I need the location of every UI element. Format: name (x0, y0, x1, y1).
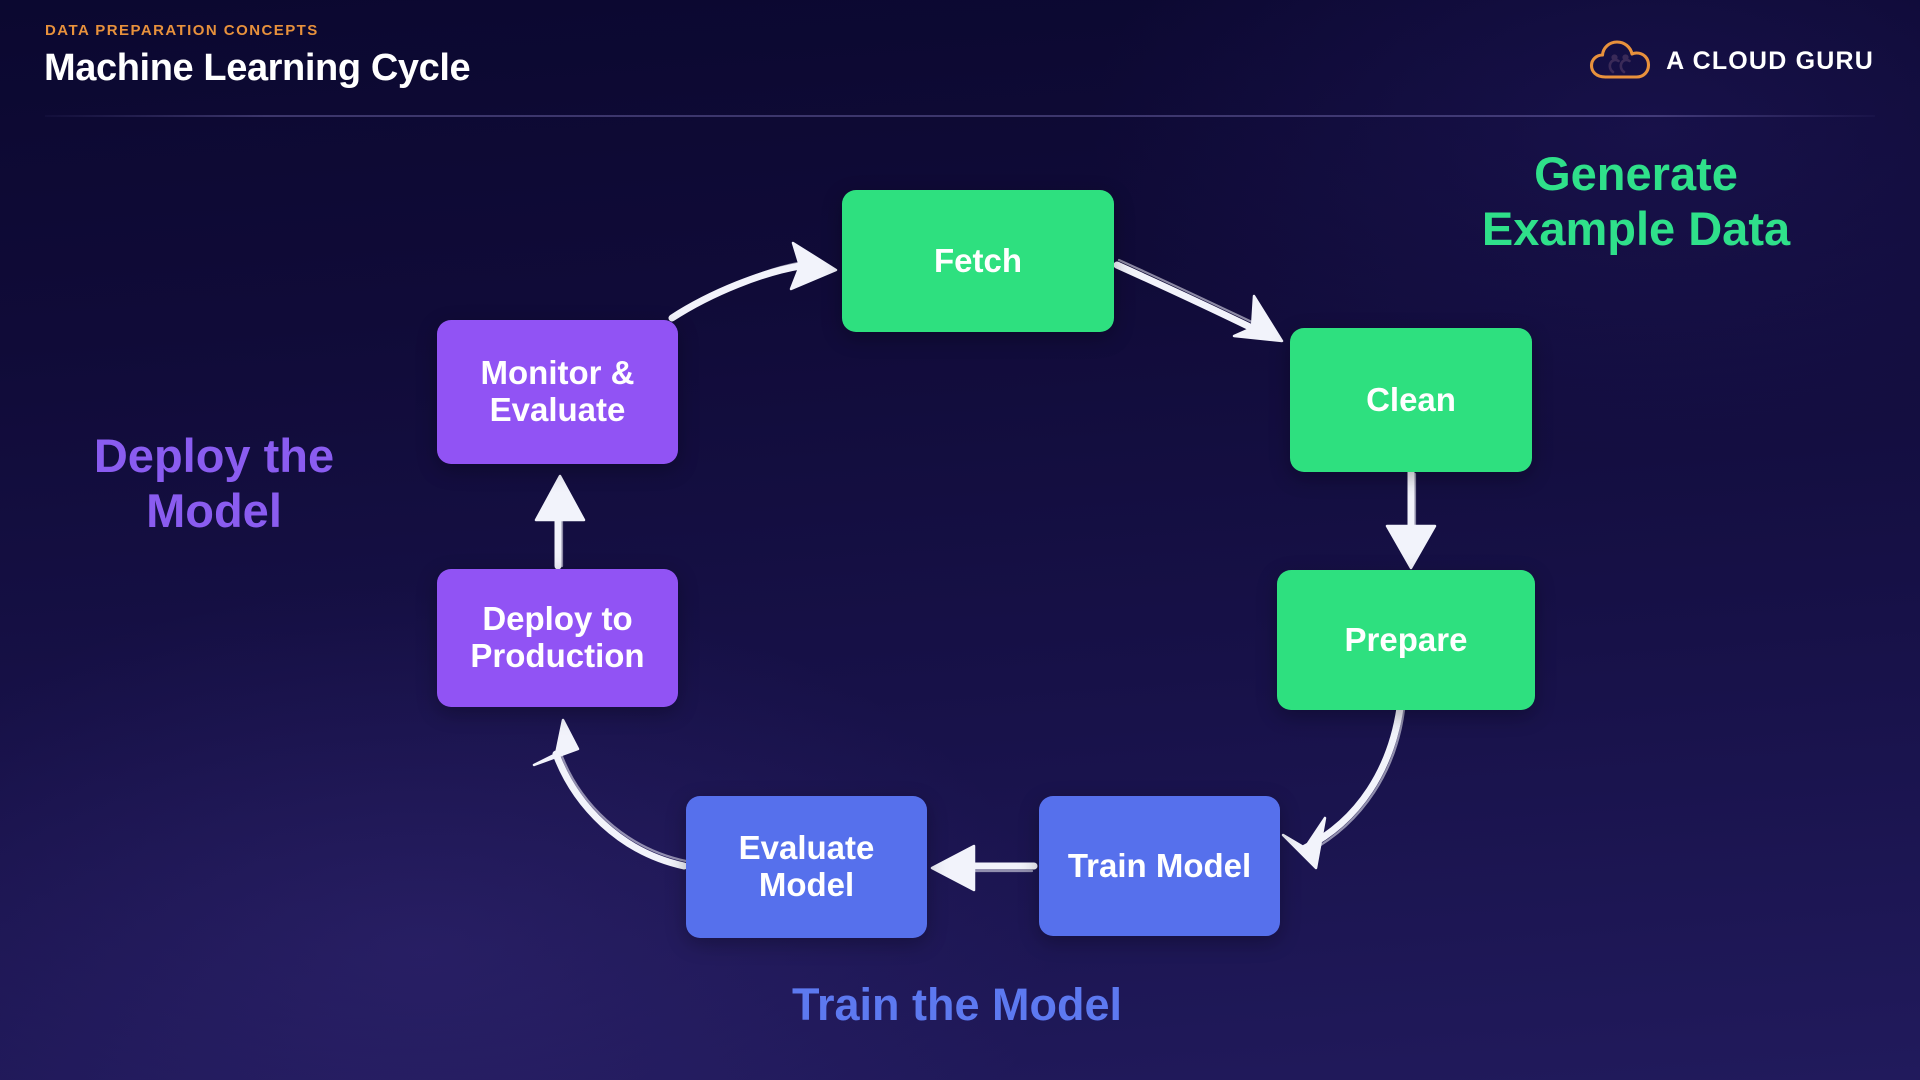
group-label-line-1: Train the Model (792, 979, 1122, 1030)
node-fetch[interactable]: Fetch (842, 190, 1114, 332)
group-label-deploy-the-model: Deploy the Model (44, 428, 384, 539)
group-label-line-2: Model (146, 484, 282, 537)
header-divider (45, 115, 1875, 117)
node-evaluate-model[interactable]: Evaluate Model (686, 796, 927, 938)
page-title: Machine Learning Cycle (44, 47, 470, 90)
node-label: Deploy to Production (470, 601, 644, 675)
node-monitor-evaluate[interactable]: Monitor & Evaluate (437, 320, 678, 464)
node-label: Train Model (1068, 848, 1251, 885)
node-label-line-1: Deploy to (482, 600, 632, 637)
slide-kicker: DATA PREPARATION CONCEPTS (45, 22, 319, 39)
node-label-line-1: Monitor & (481, 354, 635, 391)
node-label-line-1: Evaluate (739, 829, 875, 866)
node-clean[interactable]: Clean (1290, 328, 1532, 472)
cloud-guru-logo-icon (1589, 36, 1651, 87)
group-label-generate-example-data: Generate Example Data (1406, 146, 1866, 257)
brand-name: A CLOUD GURU (1666, 47, 1874, 76)
group-label-line-2: Example Data (1482, 202, 1790, 255)
group-label-line-1: Generate (1534, 147, 1738, 200)
node-label-line-2: Evaluate (490, 391, 626, 428)
node-label-line-2: Production (470, 637, 644, 674)
arrow-monitor-to-fetch (672, 243, 836, 318)
arrow-clean-to-prepare (1387, 472, 1435, 568)
group-label-line-1: Deploy the (94, 429, 334, 482)
node-prepare[interactable]: Prepare (1277, 570, 1535, 710)
node-deploy-to-production[interactable]: Deploy to Production (437, 569, 678, 707)
node-label-line-2: Model (759, 866, 854, 903)
node-label: Evaluate Model (739, 830, 875, 904)
node-label: Fetch (934, 243, 1022, 280)
brand-logo: A CLOUD GURU (1589, 36, 1874, 87)
node-label: Prepare (1345, 622, 1468, 659)
arrow-evaluate-to-deploy (534, 720, 686, 866)
node-label: Monitor & Evaluate (481, 355, 635, 429)
node-train-model[interactable]: Train Model (1039, 796, 1280, 936)
arrow-fetch-to-clean (1117, 260, 1282, 341)
arrow-train-to-evaluate (932, 846, 1034, 890)
node-label: Clean (1366, 382, 1456, 419)
group-label-train-the-model: Train the Model (646, 978, 1268, 1031)
arrow-prepare-to-train-model (1283, 708, 1404, 868)
slide-canvas: DATA PREPARATION CONCEPTS Machine Learni… (0, 0, 1920, 1080)
arrow-deploy-to-monitor (536, 476, 584, 566)
